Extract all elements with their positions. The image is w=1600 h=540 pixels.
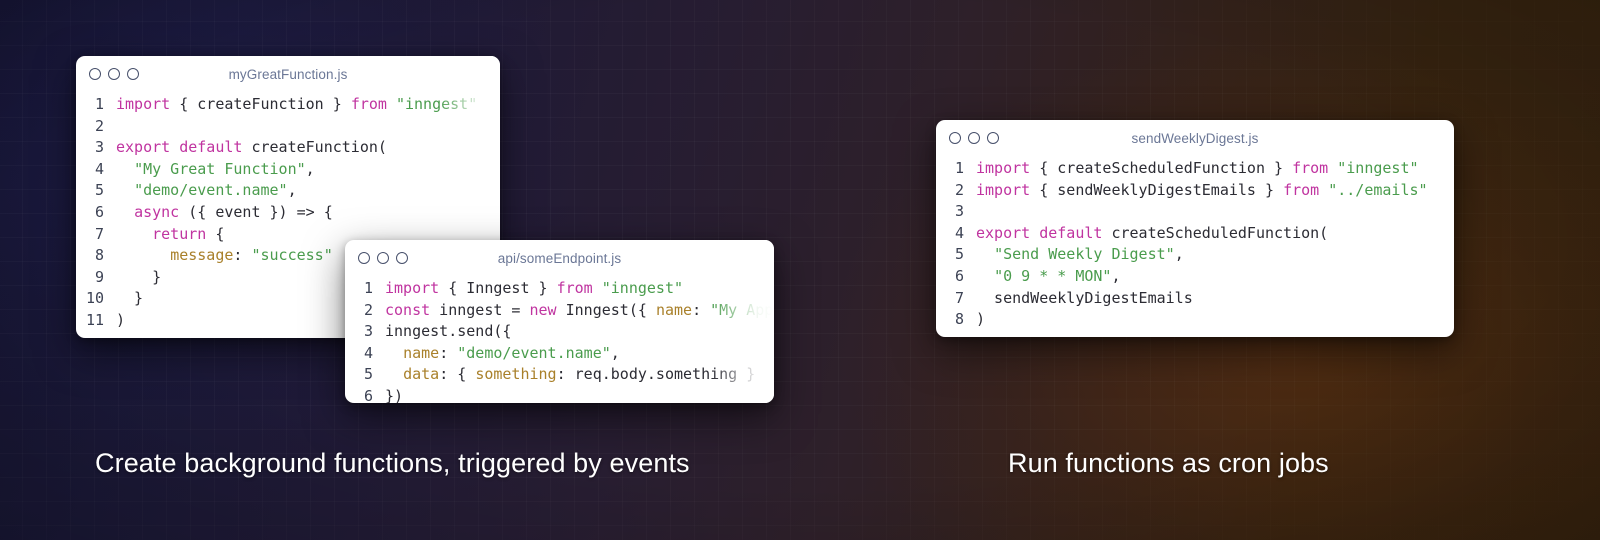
code-token: inngest.send({ bbox=[385, 322, 511, 340]
code-token: { bbox=[206, 225, 224, 243]
code-token: message bbox=[170, 246, 233, 264]
code-line: 2import { sendWeeklyDigestEmails } from … bbox=[936, 180, 1454, 202]
code-token: new bbox=[530, 301, 557, 319]
window-filename: myGreatFunction.js bbox=[76, 67, 500, 82]
code-token: const bbox=[385, 301, 430, 319]
code-token: } bbox=[116, 268, 161, 286]
line-number: 2 bbox=[936, 180, 976, 202]
line-number: 1 bbox=[76, 94, 116, 116]
code-line-content: import { Inngest } from "inngest" bbox=[385, 278, 683, 300]
code-line: 4 "My Great Function", bbox=[76, 159, 500, 181]
line-number: 4 bbox=[345, 343, 385, 365]
code-line-content: "0 9 * * MON", bbox=[976, 266, 1121, 288]
line-number: 6 bbox=[76, 202, 116, 224]
close-circle-icon[interactable] bbox=[358, 252, 370, 264]
code-line-content: ) bbox=[976, 309, 985, 331]
line-number: 11 bbox=[76, 310, 116, 332]
code-line-content bbox=[116, 116, 125, 138]
line-number: 2 bbox=[76, 116, 116, 138]
code-token: : { bbox=[439, 365, 475, 383]
code-token bbox=[116, 225, 152, 243]
caption-cron-jobs: Run functions as cron jobs bbox=[1008, 448, 1329, 479]
maximize-circle-icon[interactable] bbox=[396, 252, 408, 264]
code-line-content: } bbox=[116, 267, 161, 289]
code-line: 5 "Send Weekly Digest", bbox=[936, 244, 1454, 266]
maximize-circle-icon[interactable] bbox=[987, 132, 999, 144]
line-number: 10 bbox=[76, 288, 116, 310]
code-token: : req.body.something } bbox=[557, 365, 756, 383]
code-token: "demo/event.name" bbox=[134, 181, 288, 199]
code-token: sendWeeklyDigestEmails bbox=[976, 289, 1193, 307]
code-line: 4export default createScheduledFunction( bbox=[936, 223, 1454, 245]
code-token: export default bbox=[116, 138, 242, 156]
code-token: { sendWeeklyDigestEmails } bbox=[1030, 181, 1283, 199]
code-token: } bbox=[116, 289, 143, 307]
code-token bbox=[1328, 159, 1337, 177]
code-line: 5 data: { something: req.body.something … bbox=[345, 364, 774, 386]
code-token: from bbox=[557, 279, 593, 297]
minimize-circle-icon[interactable] bbox=[108, 68, 120, 80]
code-token: import bbox=[976, 159, 1030, 177]
code-token: "demo/event.name" bbox=[457, 344, 611, 362]
code-token: "success" bbox=[251, 246, 332, 264]
window-title-bar: myGreatFunction.js bbox=[76, 56, 500, 92]
code-token: Inngest({ bbox=[557, 301, 656, 319]
line-number: 2 bbox=[345, 300, 385, 322]
code-token bbox=[593, 279, 602, 297]
code-token: "My App" bbox=[710, 301, 774, 319]
line-number: 1 bbox=[345, 278, 385, 300]
code-token bbox=[976, 267, 994, 285]
code-line-content: import { createScheduledFunction } from … bbox=[976, 158, 1419, 180]
code-line-content: import { sendWeeklyDigestEmails } from "… bbox=[976, 180, 1428, 202]
code-line-content: } bbox=[116, 288, 143, 310]
code-line-content: export default createFunction( bbox=[116, 137, 387, 159]
code-token bbox=[116, 181, 134, 199]
code-token bbox=[387, 95, 396, 113]
code-token: "inngest" bbox=[602, 279, 683, 297]
code-token: ) bbox=[976, 310, 985, 328]
code-line: 6}) bbox=[345, 386, 774, 403]
code-token bbox=[976, 245, 994, 263]
close-circle-icon[interactable] bbox=[949, 132, 961, 144]
code-token: import bbox=[116, 95, 170, 113]
code-line-content: name: "demo/event.name", bbox=[385, 343, 620, 365]
code-line-content: inngest.send({ bbox=[385, 321, 511, 343]
code-line: 4 name: "demo/event.name", bbox=[345, 343, 774, 365]
window-title-bar: api/someEndpoint.js bbox=[345, 240, 774, 276]
code-line: 2 bbox=[76, 116, 500, 138]
line-number: 5 bbox=[936, 244, 976, 266]
code-line-content: async ({ event }) => { bbox=[116, 202, 333, 224]
code-token bbox=[116, 160, 134, 178]
code-token: from bbox=[1292, 159, 1328, 177]
code-line: 1import { createFunction } from "inngest… bbox=[76, 94, 500, 116]
line-number: 3 bbox=[936, 201, 976, 223]
code-token: : bbox=[439, 344, 457, 362]
code-token: "My Great Function" bbox=[134, 160, 306, 178]
code-token bbox=[1319, 181, 1328, 199]
window-filename: sendWeeklyDigest.js bbox=[936, 131, 1454, 146]
code-line: 3 bbox=[936, 201, 1454, 223]
code-line-content: sendWeeklyDigestEmails bbox=[976, 288, 1193, 310]
code-token: from bbox=[1283, 181, 1319, 199]
line-number: 6 bbox=[345, 386, 385, 403]
code-token: createFunction( bbox=[242, 138, 387, 156]
line-number: 5 bbox=[76, 180, 116, 202]
code-line: 8) bbox=[936, 309, 1454, 331]
window-filename: api/someEndpoint.js bbox=[345, 251, 774, 266]
code-token: , bbox=[1175, 245, 1184, 263]
code-token: { createFunction } bbox=[170, 95, 351, 113]
code-token: , bbox=[288, 181, 297, 199]
code-token bbox=[116, 246, 170, 264]
code-line: 2const inngest = new Inngest({ name: "My… bbox=[345, 300, 774, 322]
caption-background-functions: Create background functions, triggered b… bbox=[95, 448, 690, 479]
code-token: : bbox=[233, 246, 251, 264]
code-token: , bbox=[611, 344, 620, 362]
code-token: something bbox=[475, 365, 556, 383]
code-line: 3inngest.send({ bbox=[345, 321, 774, 343]
code-token: "0 9 * * MON" bbox=[994, 267, 1111, 285]
window-traffic-lights bbox=[89, 68, 139, 80]
code-token: import bbox=[385, 279, 439, 297]
code-line-content: "My Great Function", bbox=[116, 159, 315, 181]
code-line-content: ) bbox=[116, 310, 125, 332]
code-token: ) bbox=[116, 311, 125, 329]
code-token: , bbox=[306, 160, 315, 178]
line-number: 7 bbox=[76, 224, 116, 246]
code-token: import bbox=[976, 181, 1030, 199]
code-token: name bbox=[403, 344, 439, 362]
code-line-content: "demo/event.name", bbox=[116, 180, 297, 202]
line-number: 3 bbox=[345, 321, 385, 343]
code-token: { Inngest } bbox=[439, 279, 556, 297]
code-line: 1import { Inngest } from "inngest" bbox=[345, 278, 774, 300]
code-block: 1import { createScheduledFunction } from… bbox=[936, 156, 1454, 337]
line-number: 8 bbox=[936, 309, 976, 331]
code-line: 6 "0 9 * * MON", bbox=[936, 266, 1454, 288]
code-token: name bbox=[656, 301, 692, 319]
code-line: 3export default createFunction( bbox=[76, 137, 500, 159]
code-token: inngest = bbox=[430, 301, 529, 319]
illustration-canvas: myGreatFunction.js 1import { createFunct… bbox=[0, 0, 1600, 540]
code-token: ({ event }) => { bbox=[179, 203, 333, 221]
code-line-content: export default createScheduledFunction( bbox=[976, 223, 1328, 245]
code-token: export default bbox=[976, 224, 1102, 242]
close-circle-icon[interactable] bbox=[89, 68, 101, 80]
window-traffic-lights bbox=[358, 252, 408, 264]
code-line-content: const inngest = new Inngest({ name: "My … bbox=[385, 300, 774, 322]
code-token: , bbox=[1111, 267, 1120, 285]
code-token: "Send Weekly Digest" bbox=[994, 245, 1175, 263]
line-number: 8 bbox=[76, 245, 116, 267]
code-line: 7 sendWeeklyDigestEmails bbox=[936, 288, 1454, 310]
window-title-bar: sendWeeklyDigest.js bbox=[936, 120, 1454, 156]
code-token: "inngest" bbox=[396, 95, 477, 113]
code-line-content bbox=[976, 201, 985, 223]
minimize-circle-icon[interactable] bbox=[968, 132, 980, 144]
code-token: createScheduledFunction( bbox=[1102, 224, 1328, 242]
code-token: { createScheduledFunction } bbox=[1030, 159, 1292, 177]
code-window-send-weekly-digest: sendWeeklyDigest.js 1import { createSche… bbox=[936, 120, 1454, 337]
code-block: 1import { Inngest } from "inngest"2const… bbox=[345, 276, 774, 403]
line-number: 9 bbox=[76, 267, 116, 289]
maximize-circle-icon[interactable] bbox=[127, 68, 139, 80]
code-token bbox=[385, 344, 403, 362]
code-token: async bbox=[134, 203, 179, 221]
line-number: 1 bbox=[936, 158, 976, 180]
line-number: 4 bbox=[936, 223, 976, 245]
line-number: 5 bbox=[345, 364, 385, 386]
code-window-api-some-endpoint: api/someEndpoint.js 1import { Inngest } … bbox=[345, 240, 774, 403]
window-traffic-lights bbox=[949, 132, 999, 144]
code-token: from bbox=[351, 95, 387, 113]
minimize-circle-icon[interactable] bbox=[377, 252, 389, 264]
code-line-content: return { bbox=[116, 224, 224, 246]
code-token: return bbox=[152, 225, 206, 243]
code-line-content: message: "success" bbox=[116, 245, 333, 267]
code-line: 5 "demo/event.name", bbox=[76, 180, 500, 202]
code-token bbox=[116, 203, 134, 221]
code-line-content: "Send Weekly Digest", bbox=[976, 244, 1184, 266]
code-token: data bbox=[403, 365, 439, 383]
code-token: : bbox=[692, 301, 710, 319]
code-token: "../emails" bbox=[1328, 181, 1427, 199]
code-token: "inngest" bbox=[1337, 159, 1418, 177]
line-number: 3 bbox=[76, 137, 116, 159]
line-number: 6 bbox=[936, 266, 976, 288]
code-token bbox=[385, 365, 403, 383]
line-number: 7 bbox=[936, 288, 976, 310]
code-line-content: import { createFunction } from "inngest" bbox=[116, 94, 477, 116]
code-line: 1import { createScheduledFunction } from… bbox=[936, 158, 1454, 180]
line-number: 4 bbox=[76, 159, 116, 181]
code-line-content: data: { something: req.body.something } bbox=[385, 364, 755, 386]
code-token: }) bbox=[385, 387, 403, 403]
code-line: 6 async ({ event }) => { bbox=[76, 202, 500, 224]
code-line-content: }) bbox=[385, 386, 403, 403]
